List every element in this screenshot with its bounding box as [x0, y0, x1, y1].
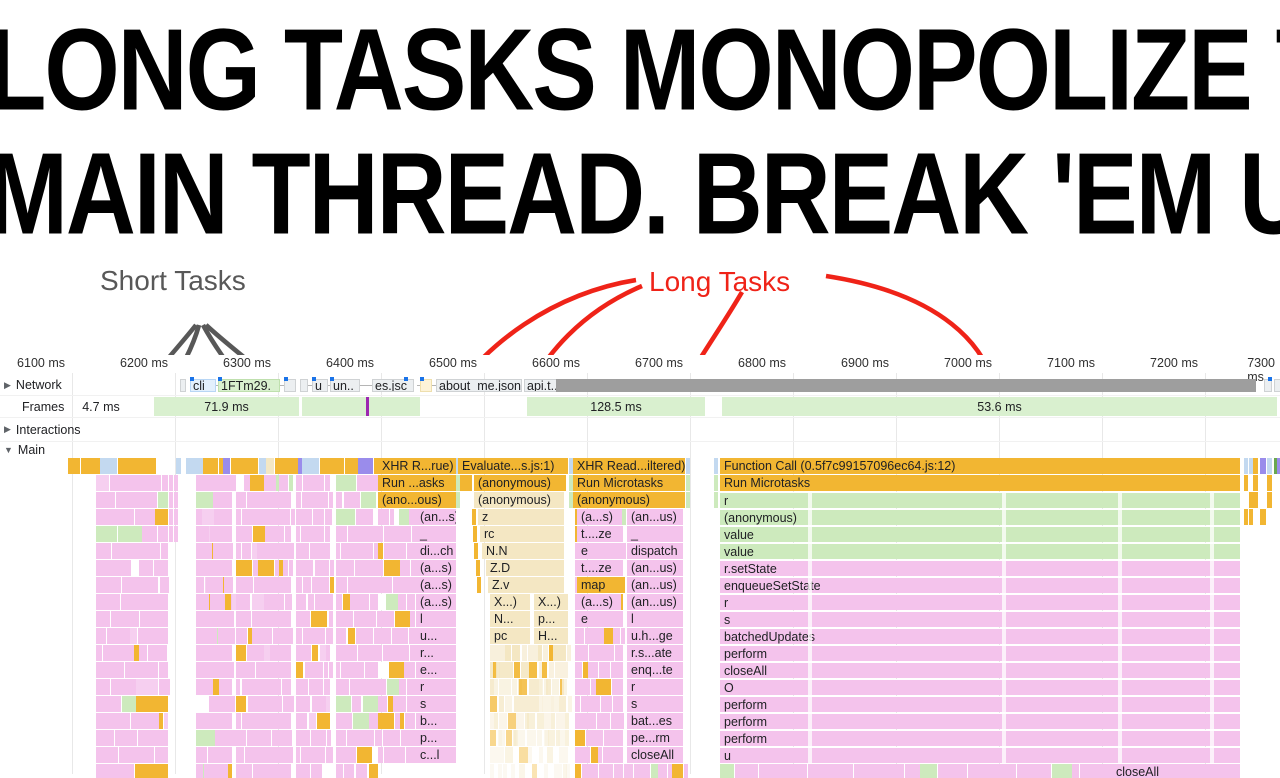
track-main[interactable]: ▼ Main [0, 442, 1280, 458]
ruler-tick: 6100 ms [17, 356, 70, 370]
annotation-long-tasks: Long Tasks [649, 266, 790, 298]
flame-bar-divider [1002, 747, 1006, 763]
flame-bar-labeled[interactable]: di...ch [416, 543, 456, 559]
flame-bar-divider [1002, 526, 1006, 542]
flame-bar-divider [1210, 492, 1214, 508]
flame-bar-labeled[interactable]: c...l [416, 747, 456, 763]
flame-bar-labeled[interactable]: l [627, 611, 683, 627]
flame-bar-labeled[interactable]: closeAll [720, 662, 1240, 678]
network-request[interactable]: about_me.json [436, 379, 522, 392]
ruler-tick: 7100 ms [1047, 356, 1100, 370]
ruler-tick: 6700 ms [635, 356, 688, 370]
flame-bar-labeled[interactable]: XHR R...rue) [378, 458, 456, 474]
flame-bar-labeled[interactable]: e [577, 543, 621, 559]
flame-bar-divider [1210, 509, 1214, 525]
flame-bar-divider [1210, 662, 1214, 678]
flame-bar-labeled[interactable]: (an...us) [627, 594, 683, 610]
flame-bar-divider [1118, 509, 1122, 525]
flame-bar-divider [1118, 611, 1122, 627]
timeline-ruler[interactable]: 6100 ms 6200 ms 6300 ms 6400 ms 6500 ms … [0, 355, 1280, 375]
network-request[interactable] [556, 379, 1256, 392]
flame-bar-labeled[interactable]: b... [416, 713, 456, 729]
flame-bar-labeled[interactable]: value [720, 543, 1240, 559]
track-main-label[interactable]: ▼ Main [4, 442, 45, 458]
flame-bar-labeled[interactable]: p... [416, 730, 456, 746]
flame-bar-labeled[interactable]: e [577, 611, 621, 627]
ruler-tick: 6600 ms [532, 356, 585, 370]
ruler-tick: 7000 ms [944, 356, 997, 370]
frame-item[interactable] [302, 397, 420, 416]
flame-bar-divider [808, 628, 812, 644]
flame-bar-labeled[interactable]: pe...rm [627, 730, 683, 746]
flame-bar-divider [1210, 679, 1214, 695]
chevron-right-icon[interactable]: ▶ [4, 425, 11, 434]
flame-bar-divider [808, 747, 812, 763]
flame-bar-divider [1118, 594, 1122, 610]
track-label-text: Interactions [16, 423, 81, 437]
track-network-label[interactable]: ▶ Network [4, 375, 62, 395]
ruler-tick: 6300 ms [223, 356, 276, 370]
chevron-right-icon[interactable]: ▶ [4, 381, 11, 390]
flame-bar-labeled[interactable]: (a...s) [416, 560, 456, 576]
flame-bar-labeled[interactable]: (anonymous) [474, 475, 566, 491]
flame-bar-labeled[interactable]: (a...s) [416, 594, 456, 610]
flame-bar-labeled[interactable]: enq...te [627, 662, 683, 678]
flame-bar-labeled[interactable]: Z.D [486, 560, 564, 576]
flame-bar-labeled[interactable]: N.N [482, 543, 564, 559]
flame-bar-labeled[interactable]: (anonymous) [573, 492, 685, 508]
flame-bar-divider [1002, 560, 1006, 576]
flame-bar-labeled[interactable]: (a...s) [577, 509, 621, 525]
flame-bar-labeled[interactable]: s [720, 611, 1240, 627]
flame-bar-divider [808, 492, 812, 508]
flame-bar-labeled[interactable]: r [416, 679, 456, 695]
flame-bar-divider [808, 662, 812, 678]
flame-bar-divider [1118, 679, 1122, 695]
annotation-short-tasks: Short Tasks [100, 265, 246, 297]
flame-bar-labeled[interactable]: u.h...ge [627, 628, 683, 644]
flame-bar-divider [1210, 645, 1214, 661]
ruler-tick: 6900 ms [841, 356, 894, 370]
ruler-tick: 6500 ms [429, 356, 482, 370]
flame-bar-labeled[interactable]: r [720, 492, 1240, 508]
flame-bar-labeled[interactable]: perform [720, 713, 1240, 729]
flame-bar-labeled[interactable]: (ano...ous) [378, 492, 456, 508]
flame-bar-divider [1002, 594, 1006, 610]
flame-bar-divider [808, 560, 812, 576]
flame-bar-labeled[interactable]: _ [627, 526, 683, 542]
flame-bar-labeled[interactable]: t....ze [577, 526, 621, 542]
flame-bar-divider [1210, 577, 1214, 593]
flame-bar-labeled[interactable]: r [627, 679, 683, 695]
flame-bar-labeled[interactable]: e... [416, 662, 456, 678]
flame-bar-divider [1210, 730, 1214, 746]
flame-bar-divider [1210, 543, 1214, 559]
flame-bar-divider [808, 611, 812, 627]
flame-bar-labeled[interactable]: (an...us) [627, 509, 683, 525]
flame-bar-labeled[interactable]: r... [416, 645, 456, 661]
flame-bar-labeled[interactable]: Function Call (0.5f7c99157096ec64.js:12) [720, 458, 1240, 474]
flame-bar-divider [808, 594, 812, 610]
flame-bar-divider [1002, 713, 1006, 729]
flame-bar-divider [808, 730, 812, 746]
ruler-tick: 6400 ms [326, 356, 379, 370]
frame-item[interactable]: 4.7 ms [62, 397, 140, 416]
flame-bar-divider [1210, 594, 1214, 610]
flame-bar-divider [1210, 747, 1214, 763]
flame-bar-labeled[interactable]: s [416, 696, 456, 712]
flame-bar-labeled[interactable]: u [720, 747, 1240, 763]
flame-bar-labeled[interactable]: XHR Read...iltered) [573, 458, 685, 474]
flame-bar-divider [808, 577, 812, 593]
flame-bar-labeled[interactable]: z [478, 509, 564, 525]
frame-item[interactable]: 71.9 ms [154, 397, 299, 416]
flame-bar-divider [1210, 696, 1214, 712]
flame-bar-divider [1002, 492, 1006, 508]
flame-bar-divider [1118, 560, 1122, 576]
flame-bar-labeled[interactable]: X...) [490, 594, 530, 610]
track-network[interactable]: ▶ Network cli 1FTm29. u un.. [0, 375, 1280, 396]
flame-bar-divider [1118, 526, 1122, 542]
flame-bar-divider [1118, 543, 1122, 559]
flame-bar-labeled[interactable]: rc [480, 526, 564, 542]
track-label-text: Main [18, 443, 45, 457]
flame-bar-labeled[interactable]: enqueueSetState [720, 577, 1240, 593]
flame-bar-divider [808, 645, 812, 661]
flame-bar-labeled[interactable]: t....ze [577, 560, 621, 576]
flame-bar-labeled[interactable]: (anonymous) [720, 509, 1240, 525]
flame-bar-labeled[interactable]: H... [534, 628, 568, 644]
flame-bar-labeled[interactable]: X...) [534, 594, 568, 610]
flame-bar-divider [1002, 730, 1006, 746]
flame-bar-labeled[interactable]: closeAll [627, 747, 683, 763]
flame-bar-divider [1210, 713, 1214, 729]
flame-bar-labeled[interactable]: s [627, 696, 683, 712]
flame-bar-labeled[interactable]: r [720, 594, 1240, 610]
flame-bar-divider [1118, 713, 1122, 729]
flame-bar-divider [1002, 662, 1006, 678]
track-label-text: Network [16, 378, 62, 392]
flame-bar-divider [1210, 526, 1214, 542]
flame-bar-divider [808, 696, 812, 712]
performance-panel: 6100 ms 6200 ms 6300 ms 6400 ms 6500 ms … [0, 355, 1280, 774]
flame-bar-labeled[interactable]: Run Microtasks [720, 475, 1240, 491]
flame-bar-divider [1210, 560, 1214, 576]
flame-bar-labeled[interactable]: _ [416, 526, 456, 542]
flame-bar-divider [808, 713, 812, 729]
flame-bar-labeled[interactable]: batchedUpdates [720, 628, 1240, 644]
flame-chart[interactable]: XHR R...rue)Run ...asks(ano...ous)(an...… [0, 458, 1280, 778]
ruler-tick: 6200 ms [120, 356, 173, 370]
flame-bar-divider [1002, 679, 1006, 695]
flame-bar-divider [808, 543, 812, 559]
flame-bar-labeled[interactable]: (a...s) [416, 577, 456, 593]
flame-bar-divider [1118, 730, 1122, 746]
flame-bar-labeled[interactable]: perform [720, 696, 1240, 712]
flame-bar-labeled[interactable]: map [577, 577, 621, 593]
flame-bar-divider [1002, 645, 1006, 661]
flame-bar-labeled[interactable]: Run ...asks [378, 475, 456, 491]
network-request[interactable]: un.. [330, 379, 360, 392]
flame-bar-labeled[interactable]: (anonymous) [474, 492, 564, 508]
flame-bar-divider [1002, 611, 1006, 627]
flame-bar-divider [1118, 492, 1122, 508]
flame-bar-labeled[interactable]: Evaluate...s.js:1) [458, 458, 568, 474]
track-interactions[interactable]: ▶ Interactions [0, 418, 1280, 442]
flame-bar-labeled[interactable]: value [720, 526, 1240, 542]
headline-line-2: MAIN THREAD. BREAK 'EM UP! [0, 132, 1280, 256]
track-frames-label: Frames [22, 396, 64, 417]
flame-bar-divider [1118, 747, 1122, 763]
frame-item[interactable]: 128.5 ms [527, 397, 705, 416]
flame-bar-labeled[interactable]: r.s...ate [627, 645, 683, 661]
flame-bar-labeled[interactable]: closeAll [1112, 764, 1222, 778]
flame-bar-labeled[interactable]: u... [416, 628, 456, 644]
frame-item[interactable]: 53.6 ms [722, 397, 1277, 416]
headline-line-1: LONG TASKS MONOPOLIZE THE [0, 8, 1280, 132]
chevron-down-icon[interactable]: ▼ [4, 446, 13, 455]
slide-root: LONG TASKS MONOPOLIZE THE MAIN THREAD. B… [0, 0, 1280, 774]
flame-bar-divider [1210, 628, 1214, 644]
ruler-tick: 7200 ms [1150, 356, 1203, 370]
flame-bar-divider [1002, 509, 1006, 525]
flame-bar-labeled[interactable]: dispatch [627, 543, 683, 559]
track-interactions-label[interactable]: ▶ Interactions [4, 418, 81, 441]
network-request[interactable]: 1FTm29. [218, 379, 280, 392]
flame-bar-divider [1002, 577, 1006, 593]
flame-bar-labeled[interactable]: perform [720, 645, 1240, 661]
flame-bar-labeled[interactable]: l [416, 611, 456, 627]
network-requests: cli 1FTm29. u un.. es.jsc about_me.json … [72, 377, 1280, 393]
flame-bar-labeled[interactable]: r.setState [720, 560, 1240, 576]
ruler-tick: 6800 ms [738, 356, 791, 370]
track-label-text: Frames [22, 400, 64, 414]
flame-bar-divider [1210, 611, 1214, 627]
page-title: LONG TASKS MONOPOLIZE THE MAIN THREAD. B… [0, 8, 1280, 234]
flame-bar-divider [1002, 543, 1006, 559]
flame-bar-labeled[interactable]: Z.v [488, 577, 564, 593]
flame-bar-labeled[interactable]: O [720, 679, 1240, 695]
flame-bar-labeled[interactable]: (an...s) [416, 509, 456, 525]
flame-bar-labeled[interactable]: pc [490, 628, 530, 644]
flame-bar-labeled[interactable]: p... [534, 611, 568, 627]
flame-bar-divider [808, 679, 812, 695]
flame-bar-labeled[interactable]: perform [720, 730, 1240, 746]
flame-bar-labeled[interactable]: bat...es [627, 713, 683, 729]
flame-bar-divider [1002, 628, 1006, 644]
flame-bar-labeled[interactable]: Run Microtasks [573, 475, 685, 491]
flame-bar-divider [1118, 696, 1122, 712]
flame-bar-divider [1002, 696, 1006, 712]
track-frames[interactable]: Frames 4.7 ms 71.9 ms 270.2 ms 128.5 ms … [0, 396, 1280, 418]
flame-bar-divider [808, 509, 812, 525]
frames-list: 4.7 ms 71.9 ms 270.2 ms 128.5 ms 53.6 ms [72, 397, 1280, 416]
flame-bar-divider [1118, 628, 1122, 644]
flame-bar-divider [1118, 645, 1122, 661]
flame-bar-labeled[interactable]: (a...s) [577, 594, 621, 610]
flame-bar-labeled[interactable]: N... [490, 611, 530, 627]
flame-bar-divider [1118, 577, 1122, 593]
flame-bar-labeled[interactable]: (an...us) [627, 577, 683, 593]
flame-bar-divider [808, 526, 812, 542]
flame-bar-labeled[interactable]: (an...us) [627, 560, 683, 576]
flame-bar-divider [1118, 662, 1122, 678]
